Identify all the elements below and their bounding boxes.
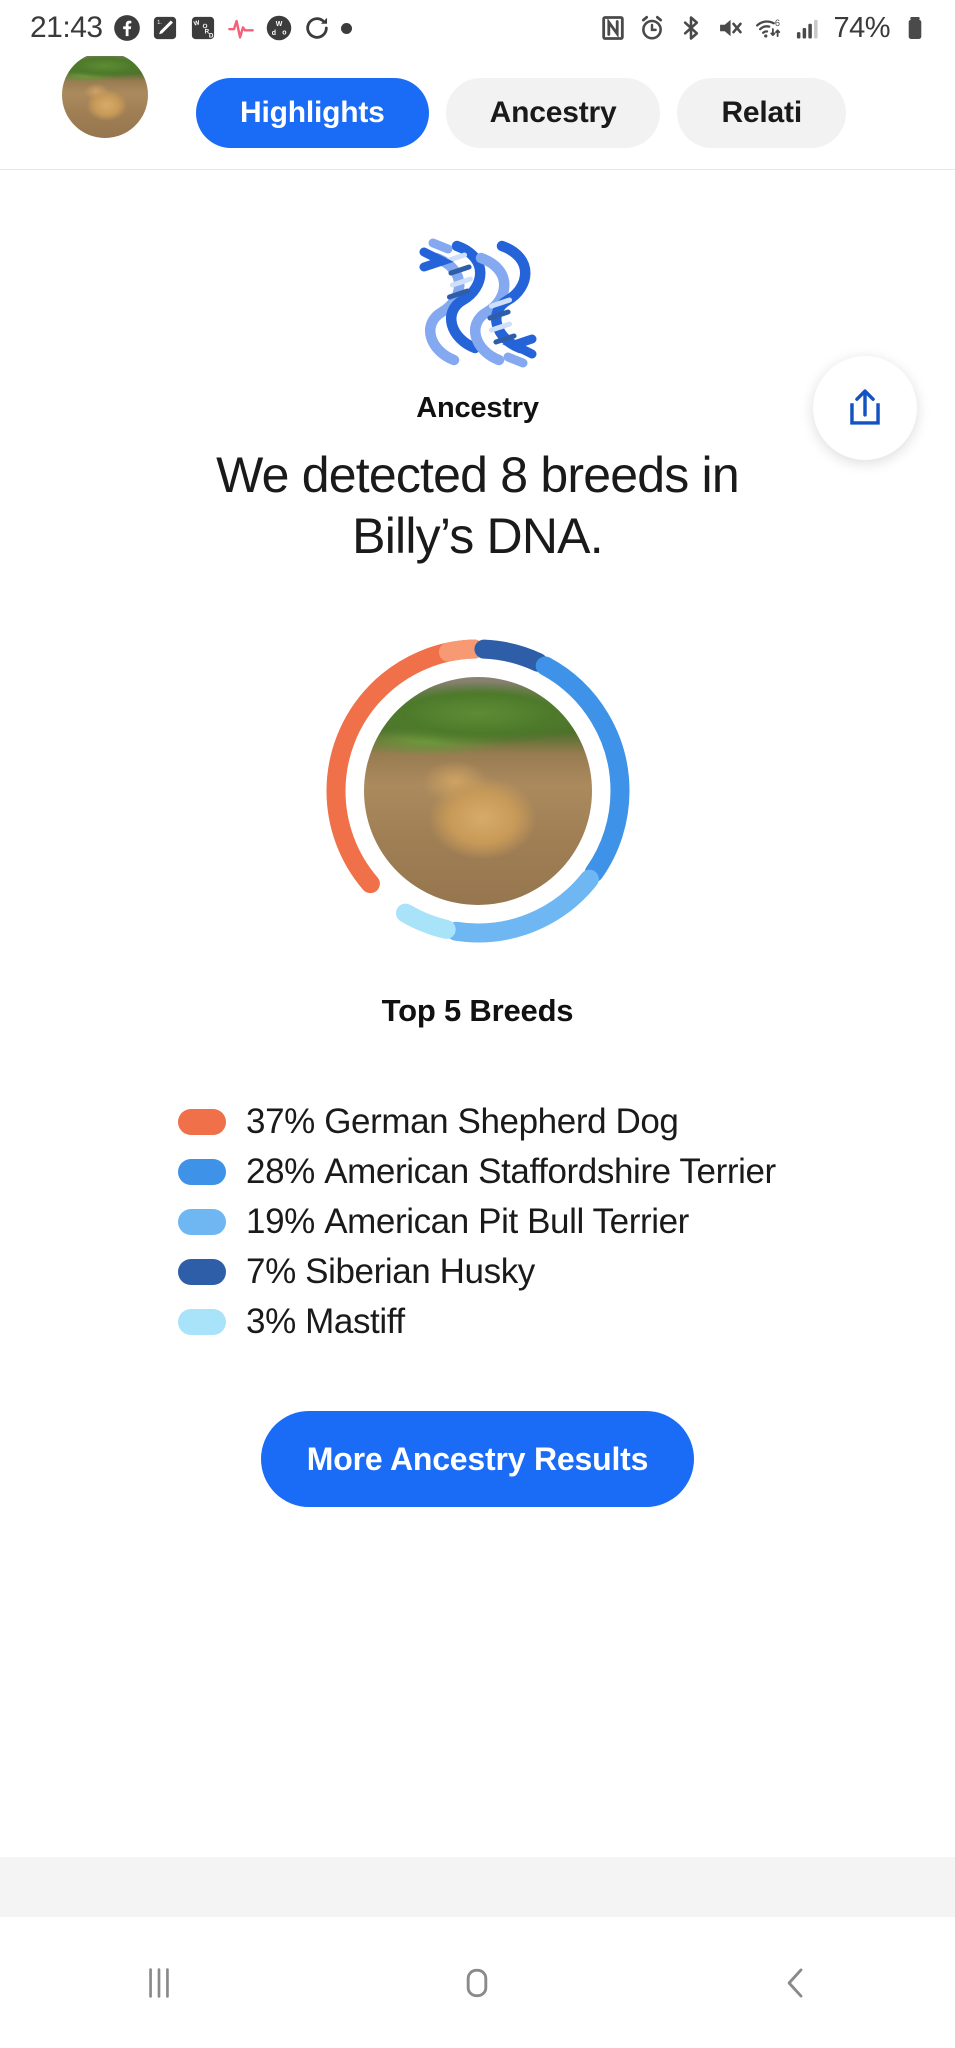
legend-swatch-icon (178, 1309, 226, 1335)
alarm-icon (638, 14, 666, 42)
page-title: We detected 8 breeds in Billy’s DNA. (0, 445, 955, 567)
note-edit-icon: 1. (151, 14, 179, 42)
legend-breed: Mastiff (305, 1302, 405, 1341)
system-navigation-bar (0, 1917, 955, 2048)
legend-item-siberian-husky[interactable]: 7% Siberian Husky (178, 1253, 955, 1291)
dna-helix-icon (403, 228, 553, 378)
back-button[interactable] (726, 1933, 866, 2033)
dwo-app-icon: W d o (265, 14, 293, 42)
home-icon (454, 1960, 500, 2006)
battery-percent: 74% (833, 12, 890, 45)
legend-breed: Siberian Husky (305, 1252, 535, 1291)
share-icon (842, 385, 888, 431)
headline-line-2: Billy’s DNA. (0, 506, 955, 567)
word-game-icon: W O R D (189, 14, 217, 42)
hero-icon-wrap (0, 228, 955, 378)
svg-text:W: W (275, 21, 282, 28)
home-button[interactable] (407, 1933, 547, 2033)
legend-percent: 28% (246, 1152, 315, 1191)
status-bar: 21:43 1. W O R D W (0, 0, 955, 56)
breed-legend: 37% German Shepherd Dog 28% American Sta… (178, 1103, 955, 1341)
legend-label: 19% American Pit Bull Terrier (246, 1202, 689, 1242)
phone-screen: 21:43 1. W O R D W (0, 0, 955, 2048)
legend-item-american-pit-bull-terrier[interactable]: 19% American Pit Bull Terrier (178, 1203, 955, 1241)
avatar-photo (62, 56, 148, 138)
svg-text:D: D (208, 32, 213, 39)
ancestry-card: Ancestry We detected 8 breeds in Billy’s… (0, 170, 955, 1830)
legend-percent: 37% (246, 1102, 315, 1141)
status-bar-left: 21:43 1. W O R D W (30, 11, 352, 45)
svg-text:o: o (282, 30, 286, 37)
tab-ancestry[interactable]: Ancestry (446, 78, 661, 148)
legend-percent: 3% (246, 1302, 296, 1341)
tab-list: Highlights Ancestry Relati (196, 78, 846, 148)
legend-item-american-staffordshire-terrier[interactable]: 28% American Staffordshire Terrier (178, 1153, 955, 1191)
cellular-signal-icon (794, 14, 822, 42)
dog-photo (364, 677, 592, 905)
breed-donut-chart (322, 635, 634, 947)
status-clock: 21:43 (30, 11, 103, 45)
section-kicker: Ancestry (0, 392, 955, 425)
tab-highlights-label: Highlights (240, 96, 385, 130)
svg-text:6: 6 (775, 18, 780, 28)
facebook-icon (113, 14, 141, 42)
legend-swatch-icon (178, 1109, 226, 1135)
tab-ancestry-label: Ancestry (490, 96, 617, 130)
wifi6-icon: 6 (755, 14, 783, 42)
legend-percent: 19% (246, 1202, 315, 1241)
legend-item-german-shepherd-dog[interactable]: 37% German Shepherd Dog (178, 1103, 955, 1141)
legend-breed: German Shepherd Dog (324, 1102, 678, 1141)
back-icon (773, 1960, 819, 2006)
legend-swatch-icon (178, 1159, 226, 1185)
legend-label: 37% German Shepherd Dog (246, 1102, 678, 1142)
donut-center-photo (364, 677, 592, 905)
tab-relatives-label: Relati (721, 96, 802, 130)
svg-text:d: d (271, 30, 275, 37)
recents-button[interactable] (89, 1933, 229, 2033)
nfc-icon (599, 14, 627, 42)
bluetooth-icon (677, 14, 705, 42)
mute-icon (716, 14, 744, 42)
status-bar-right: 6 74% (599, 12, 929, 45)
legend-breed: American Staffordshire Terrier (324, 1152, 776, 1191)
tab-highlights[interactable]: Highlights (196, 78, 429, 148)
recents-icon (136, 1960, 182, 2006)
heart-rate-icon (227, 14, 255, 42)
share-button[interactable] (813, 356, 917, 460)
legend-swatch-icon (178, 1259, 226, 1285)
legend-breed: American Pit Bull Terrier (324, 1202, 689, 1241)
legend-label: 3% Mastiff (246, 1302, 405, 1342)
section-divider-band (0, 1857, 955, 1917)
headline-line-1: We detected 8 breeds in (0, 445, 955, 506)
dog-avatar[interactable] (62, 56, 148, 138)
tab-relatives[interactable]: Relati (677, 78, 846, 148)
legend-percent: 7% (246, 1252, 296, 1291)
legend-label: 7% Siberian Husky (246, 1252, 535, 1292)
dot-icon (341, 23, 352, 34)
tab-bar: Highlights Ancestry Relati (0, 56, 955, 170)
svg-text:1.: 1. (157, 20, 162, 26)
legend-item-mastiff[interactable]: 3% Mastiff (178, 1303, 955, 1341)
legend-label: 28% American Staffordshire Terrier (246, 1152, 776, 1192)
battery-icon (901, 14, 929, 42)
cta-wrap: More Ancestry Results (0, 1411, 955, 1507)
legend-swatch-icon (178, 1209, 226, 1235)
more-ancestry-results-button[interactable]: More Ancestry Results (261, 1411, 694, 1507)
sync-icon (303, 14, 331, 42)
legend-title: Top 5 Breeds (0, 993, 955, 1029)
